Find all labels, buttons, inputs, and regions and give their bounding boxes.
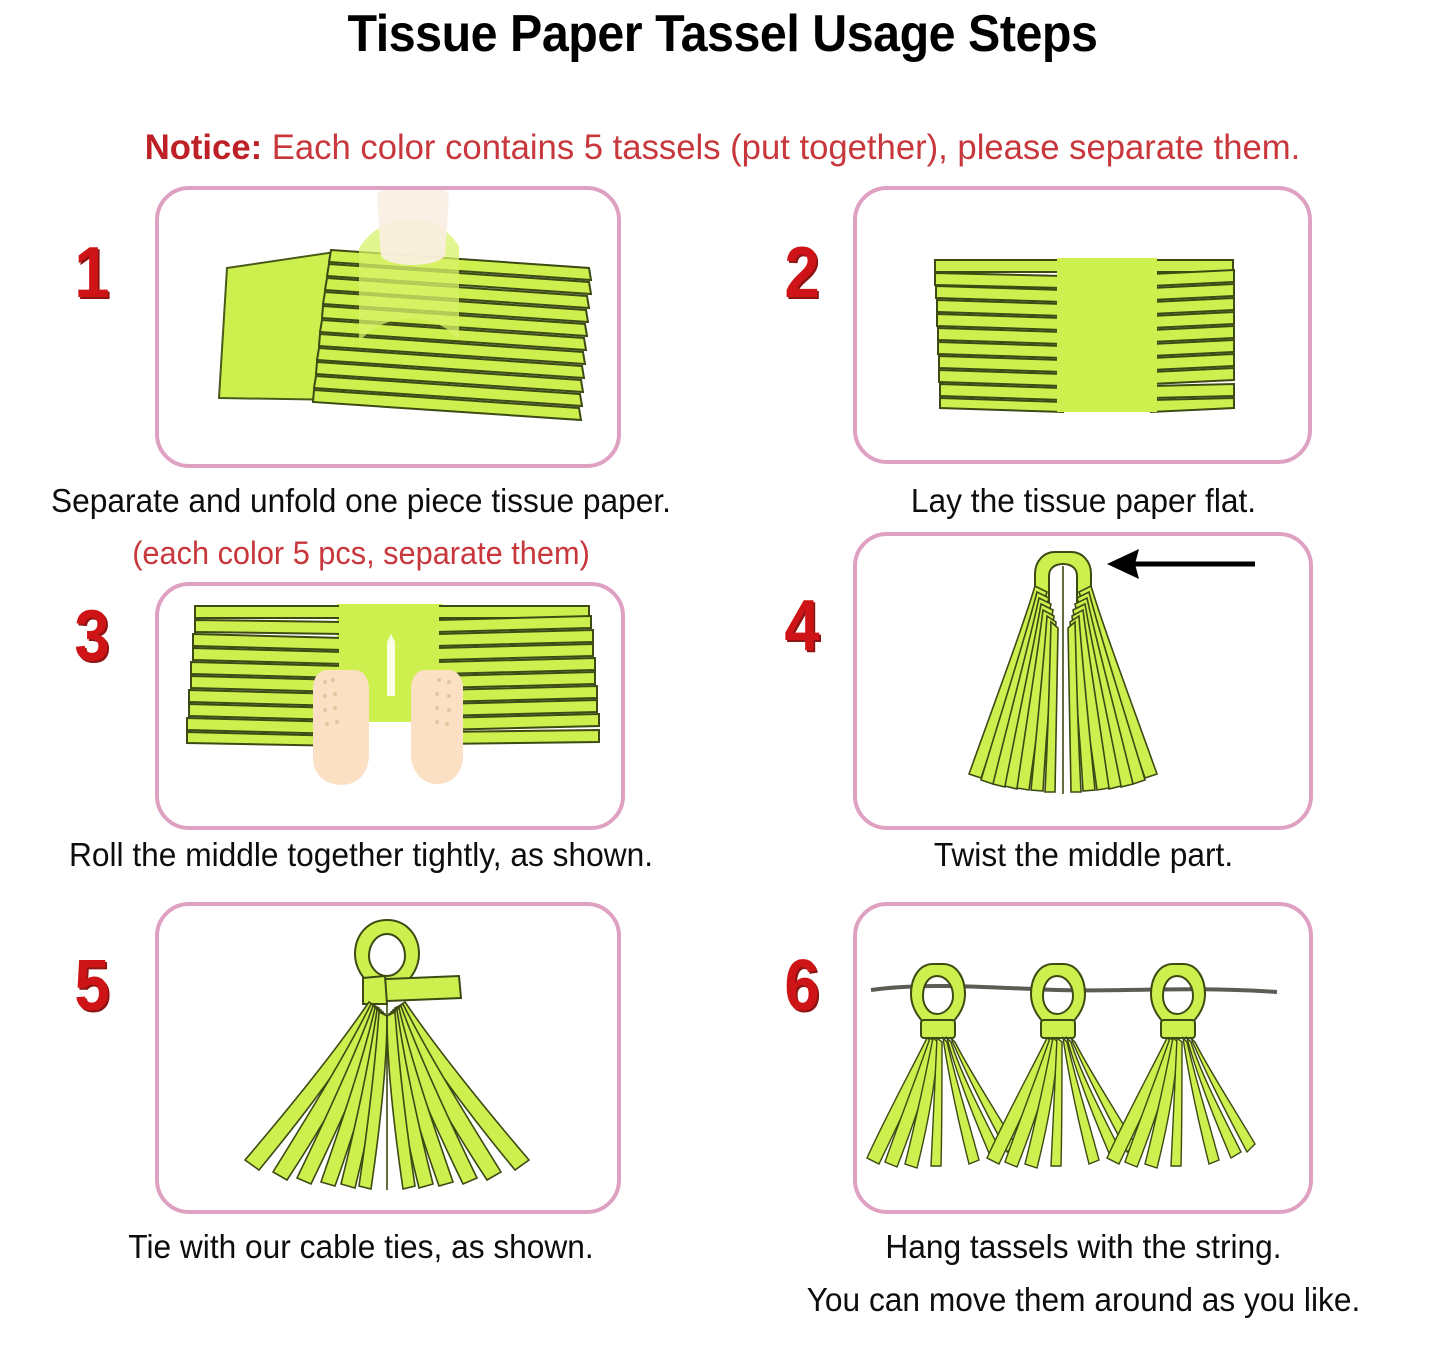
arrow-left-icon (1107, 549, 1255, 579)
tassel-3 (1107, 964, 1255, 1168)
step-panel-6 (853, 902, 1313, 1214)
illustration-step-6 (857, 906, 1309, 1210)
illustration-step-4 (857, 536, 1309, 826)
tassel-2 (987, 964, 1135, 1168)
notice-banner: Notice: Each color contains 5 tassels (p… (7, 128, 1438, 168)
step-panel-3 (155, 582, 625, 830)
step-caption-3: Roll the middle together tightly, as sho… (14, 836, 707, 874)
step-number-1: 1 (74, 237, 109, 309)
illustration-step-5 (159, 906, 617, 1210)
step-panel-5 (155, 902, 621, 1214)
step-number-4: 4 (784, 590, 819, 662)
notice-text: Each color contains 5 tassels (put toget… (262, 128, 1300, 167)
step-caption-5: Tie with our cable ties, as shown. (14, 1228, 707, 1266)
illustration-step-3 (159, 586, 621, 826)
step-cell-1: 1 (0, 182, 722, 592)
step-panel-1 (155, 186, 621, 468)
step-number-5: 5 (74, 950, 109, 1022)
step-panel-2 (853, 186, 1312, 464)
step-cell-5: 5 (0, 900, 722, 1300)
step-caption-4: Twist the middle part. (736, 836, 1430, 874)
step-caption-1: Separate and unfold one piece tissue pap… (14, 482, 707, 520)
notice-label: Notice: (145, 128, 262, 167)
step-caption-6: Hang tassels with the string. (736, 1228, 1430, 1266)
step-cell-4: 4 (722, 530, 1445, 910)
tassel-1 (867, 964, 1015, 1168)
illustration-step-2 (857, 190, 1308, 460)
left-hand-icon (313, 670, 369, 785)
step-cell-3: 3 (0, 580, 722, 910)
page-title: Tissue Paper Tassel Usage Steps (51, 4, 1395, 64)
step-number-3: 3 (74, 600, 109, 672)
step-subcaption-1: (each color 5 pcs, separate them) (14, 535, 707, 572)
step-subcaption-6: You can move them around as you like. (736, 1281, 1430, 1319)
step-panel-4 (853, 532, 1313, 830)
step-caption-2: Lay the tissue paper flat. (736, 482, 1430, 520)
step-number-2: 2 (784, 237, 819, 309)
step-number-6: 6 (784, 950, 819, 1022)
illustration-step-1 (159, 190, 617, 464)
right-hand-icon (411, 670, 463, 784)
step-cell-6: 6 (722, 900, 1445, 1300)
